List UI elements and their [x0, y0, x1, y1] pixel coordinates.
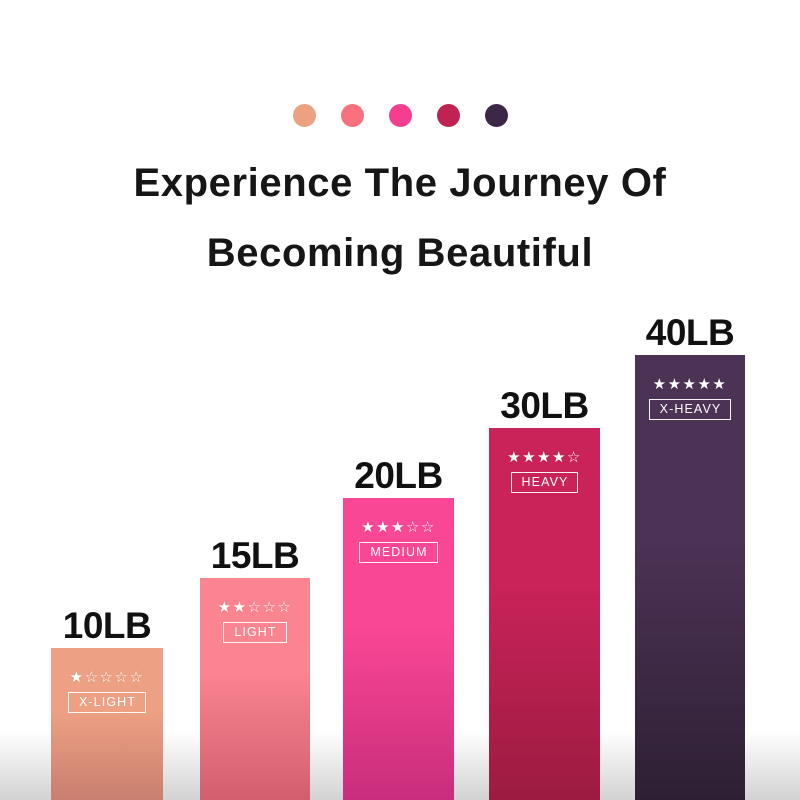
tier-label: MEDIUM — [359, 542, 437, 563]
bar-value-label: 15LB — [211, 537, 299, 574]
bar-x-light[interactable]: 10LB★☆☆☆☆X-LIGHT — [51, 648, 163, 800]
star-rating: ★★☆☆☆ — [218, 600, 293, 615]
tier-label: LIGHT — [223, 622, 286, 643]
bar-x-heavy[interactable]: 40LB★★★★★X-HEAVY — [635, 355, 745, 800]
bar-fill: ★☆☆☆☆X-LIGHT — [51, 648, 163, 800]
star-rating: ★★★★☆ — [507, 450, 582, 465]
bar-badge: ★★★★☆HEAVY — [489, 450, 600, 493]
resistance-band-infographic: Experience The Journey Of Becoming Beaut… — [0, 0, 800, 800]
bar-fill: ★★☆☆☆LIGHT — [200, 578, 310, 800]
bar-value-label: 20LB — [354, 457, 442, 494]
bar-heavy[interactable]: 30LB★★★★☆HEAVY — [489, 428, 600, 800]
bar-value-label: 30LB — [500, 387, 588, 424]
star-rating: ★☆☆☆☆ — [70, 670, 145, 685]
bar-badge: ★☆☆☆☆X-LIGHT — [51, 670, 163, 713]
bar-fill: ★★★★★X-HEAVY — [635, 355, 745, 800]
tier-label: HEAVY — [511, 472, 579, 493]
bar-badge: ★★★☆☆MEDIUM — [343, 520, 454, 563]
bar-fill: ★★★★☆HEAVY — [489, 428, 600, 800]
tier-label: X-HEAVY — [649, 399, 732, 420]
bar-chart: 10LB★☆☆☆☆X-LIGHT15LB★★☆☆☆LIGHT20LB★★★☆☆M… — [0, 0, 800, 800]
bar-badge: ★★★★★X-HEAVY — [635, 377, 745, 420]
bar-light[interactable]: 15LB★★☆☆☆LIGHT — [200, 578, 310, 800]
star-rating: ★★★★★ — [653, 377, 728, 392]
bar-badge: ★★☆☆☆LIGHT — [200, 600, 310, 643]
bar-value-label: 40LB — [646, 314, 734, 351]
tier-label: X-LIGHT — [68, 692, 146, 713]
bar-value-label: 10LB — [63, 607, 151, 644]
bar-fill: ★★★☆☆MEDIUM — [343, 498, 454, 800]
star-rating: ★★★☆☆ — [361, 520, 436, 535]
bar-medium[interactable]: 20LB★★★☆☆MEDIUM — [343, 498, 454, 800]
